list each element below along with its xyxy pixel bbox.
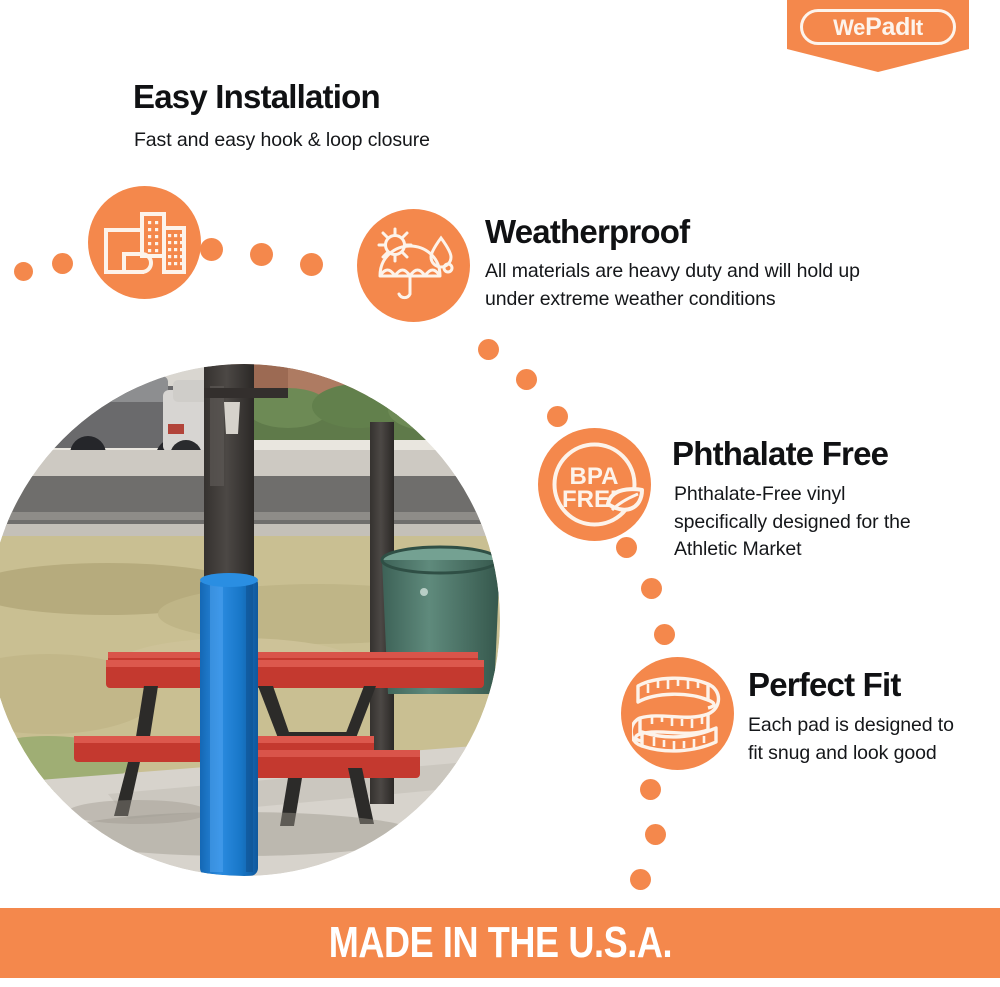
trail-dot <box>654 624 675 645</box>
logo-text: WePadIt <box>833 15 923 40</box>
made-in-usa-label: MADE IN THE U.S.A. <box>328 921 671 965</box>
trail-dot <box>616 537 637 558</box>
trail-dot <box>200 238 223 261</box>
trail-dot <box>52 253 73 274</box>
feature-desc-phthalate-free: Phthalate-Free vinyl specifically design… <box>674 481 934 564</box>
feature-title-phthalate-free: Phthalate Free <box>672 437 888 472</box>
feature-title-weatherproof: Weatherproof <box>485 215 689 250</box>
bpa-free-badge-icon: BPA FREE <box>538 428 651 541</box>
logo-outline: WePadIt <box>800 9 956 45</box>
feature-desc-perfect-fit: Each pad is designed to fit snug and loo… <box>748 712 973 767</box>
feature-desc-easy-installation: Fast and easy hook & loop closure <box>134 127 554 155</box>
product-photo <box>0 364 500 876</box>
feature-title-perfect-fit: Perfect Fit <box>748 668 901 703</box>
made-in-usa-banner: MADE IN THE U.S.A. <box>0 908 1000 978</box>
feature-desc-weatherproof: All materials are heavy duty and will ho… <box>485 258 905 313</box>
trail-dot <box>630 869 651 890</box>
trail-dot <box>516 369 537 390</box>
trail-dot <box>547 406 568 427</box>
trail-dot <box>640 779 661 800</box>
sun-umbrella-raindrop-icon <box>357 209 470 322</box>
trail-dot <box>14 262 33 281</box>
feature-title-easy-installation: Easy Installation <box>133 80 380 115</box>
trail-dot <box>645 824 666 845</box>
logo-text-pad: Pad <box>865 13 910 41</box>
trail-dot <box>300 253 323 276</box>
trail-dot <box>478 339 499 360</box>
measuring-tape-icon <box>621 657 734 770</box>
logo-text-we: We <box>833 15 865 40</box>
trail-dot <box>250 243 273 266</box>
brand-logo: WePadIt <box>787 0 969 72</box>
hook-and-loop-closure-icon <box>88 186 201 299</box>
trail-dot <box>641 578 662 599</box>
logo-text-it: It <box>910 15 923 40</box>
infographic-canvas: WePadIt Easy Installation Fast and easy … <box>0 0 1000 987</box>
